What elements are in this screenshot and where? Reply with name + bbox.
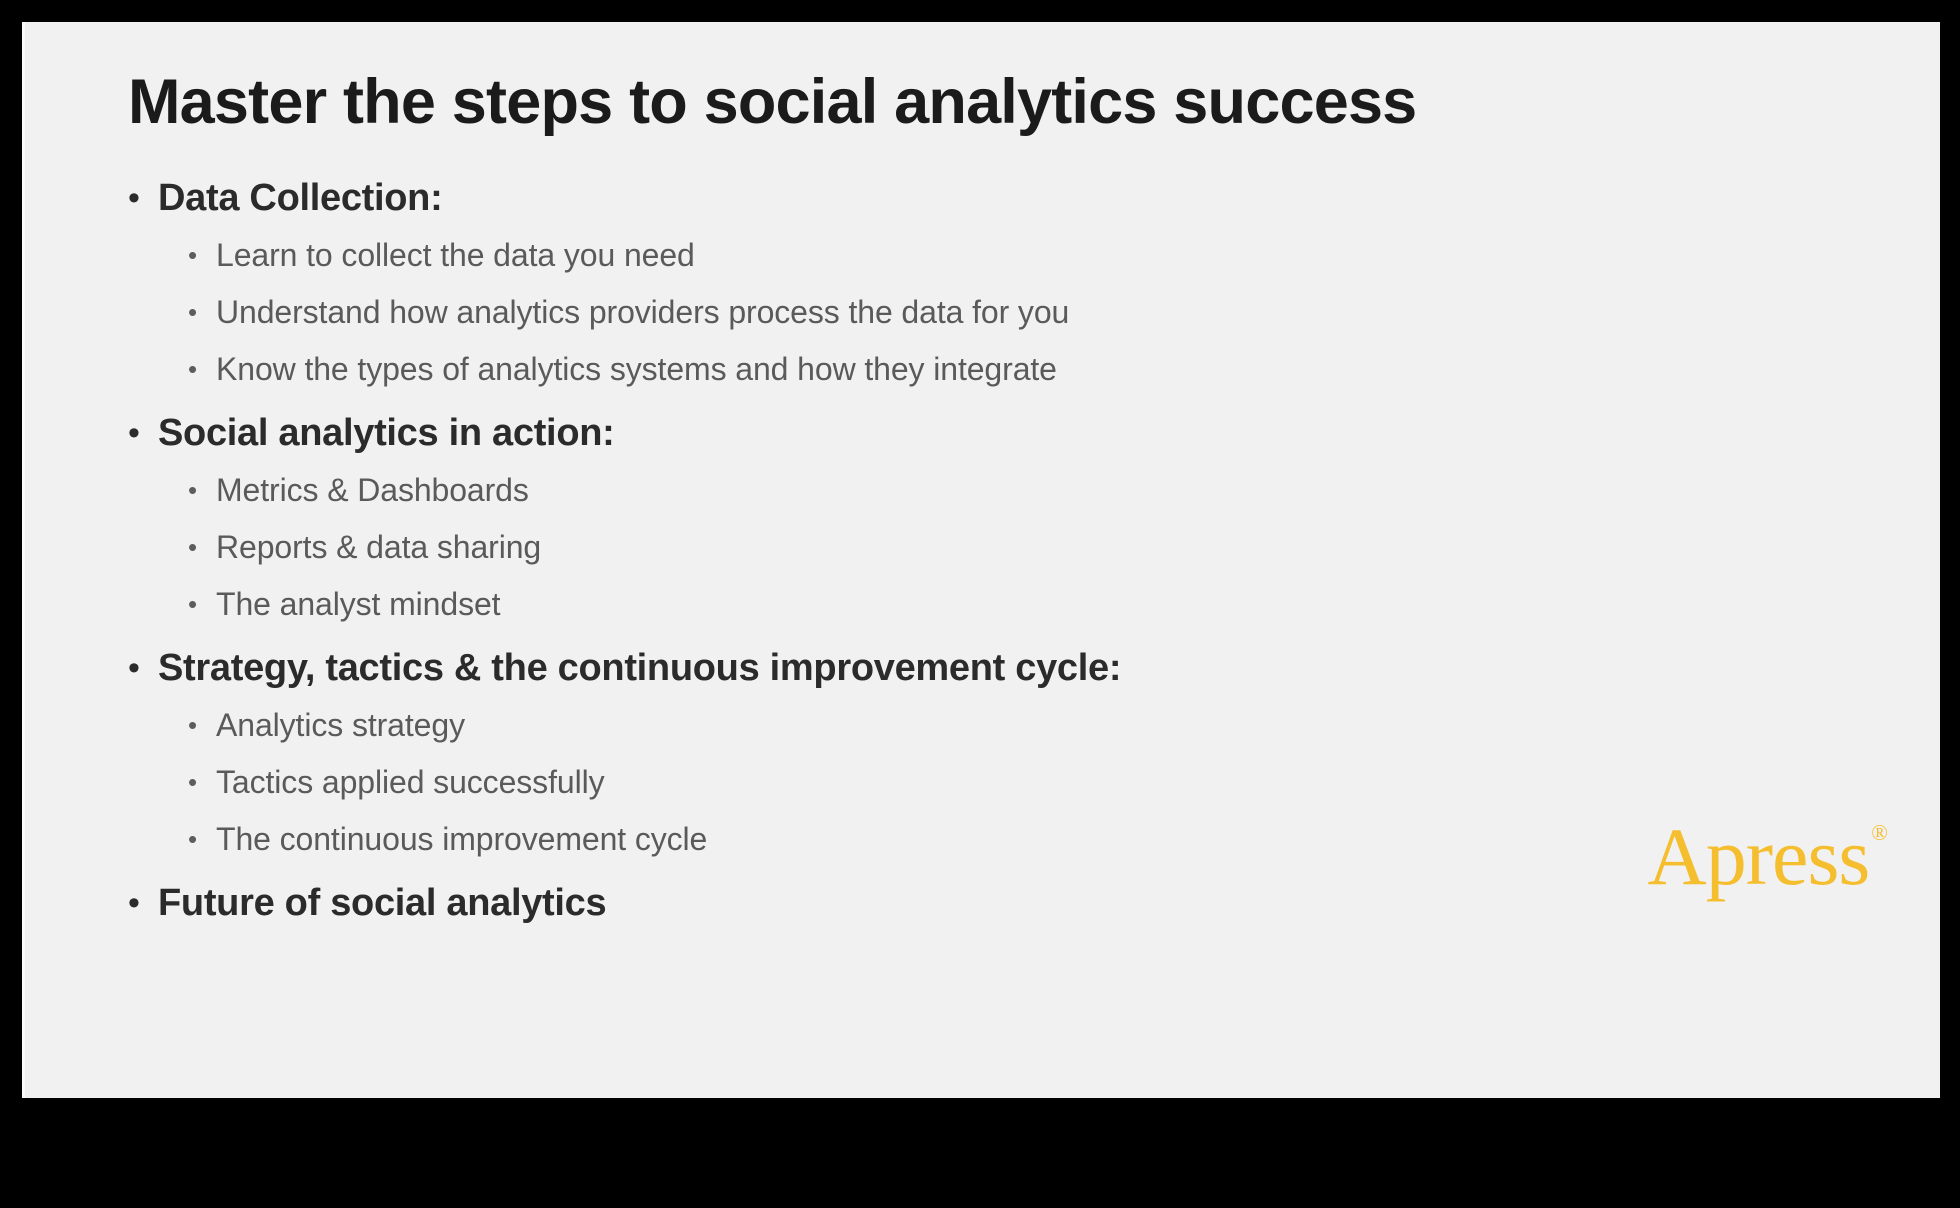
bullet-level2: •Analytics strategy bbox=[128, 698, 1628, 753]
bullet-point-icon: • bbox=[128, 170, 158, 226]
bullet-point-icon: • bbox=[188, 577, 216, 632]
bullet-level2: •Learn to collect the data you need bbox=[128, 228, 1628, 283]
bullet-point-icon: • bbox=[128, 640, 158, 696]
bullet-level2-label: Reports & data sharing bbox=[216, 520, 541, 575]
bullet-level2: •Reports & data sharing bbox=[128, 520, 1628, 575]
bullet-level1-label: Strategy, tactics & the continuous impro… bbox=[158, 640, 1121, 696]
bullet-level2-label: Understand how analytics providers proce… bbox=[216, 285, 1069, 340]
bullet-level2-label: Learn to collect the data you need bbox=[216, 228, 695, 283]
bullet-level1-label: Future of social analytics bbox=[158, 875, 606, 931]
bullet-point-icon: • bbox=[188, 698, 216, 753]
bullet-point-icon: • bbox=[128, 875, 158, 931]
bullet-point-icon: • bbox=[188, 342, 216, 397]
bullet-level1-label: Data Collection: bbox=[158, 170, 442, 226]
apress-logo: Apress ® bbox=[1648, 816, 1888, 898]
apress-wordmark: Apress bbox=[1648, 816, 1870, 898]
bullet-level1-label: Social analytics in action: bbox=[158, 405, 615, 461]
bullet-level2: •The analyst mindset bbox=[128, 577, 1628, 632]
bullet-level2-label: The analyst mindset bbox=[216, 577, 500, 632]
bullet-level2-group: •Learn to collect the data you need•Unde… bbox=[128, 228, 1628, 397]
bullet-level2: •The continuous improvement cycle bbox=[128, 812, 1628, 867]
bullet-level2: •Tactics applied successfully bbox=[128, 755, 1628, 810]
bullet-level2-group: •Metrics & Dashboards•Reports & data sha… bbox=[128, 463, 1628, 632]
bullet-point-icon: • bbox=[188, 520, 216, 575]
bullet-point-icon: • bbox=[188, 463, 216, 518]
screen-frame: Master the steps to social analytics suc… bbox=[0, 0, 1960, 1208]
bullet-point-icon: • bbox=[188, 755, 216, 810]
bullet-spacer bbox=[128, 933, 1628, 947]
bullet-level1: •Strategy, tactics & the continuous impr… bbox=[128, 640, 1628, 696]
bullet-point-icon: • bbox=[188, 285, 216, 340]
registered-trademark-icon: ® bbox=[1871, 822, 1888, 844]
bullet-level1: •Social analytics in action: bbox=[128, 405, 1628, 461]
bullet-level2-label: Metrics & Dashboards bbox=[216, 463, 529, 518]
bullet-level2: •Metrics & Dashboards bbox=[128, 463, 1628, 518]
slide-bullet-list: •Data Collection:•Learn to collect the d… bbox=[128, 170, 1628, 947]
bullet-point-icon: • bbox=[188, 812, 216, 867]
bullet-level2-label: Tactics applied successfully bbox=[216, 755, 604, 810]
presentation-slide: Master the steps to social analytics suc… bbox=[22, 22, 1940, 1098]
bullet-level2-label: The continuous improvement cycle bbox=[216, 812, 707, 867]
bullet-level2: •Know the types of analytics systems and… bbox=[128, 342, 1628, 397]
bullet-level2: •Understand how analytics providers proc… bbox=[128, 285, 1628, 340]
slide-title: Master the steps to social analytics suc… bbox=[128, 66, 1416, 138]
bullet-level2-label: Analytics strategy bbox=[216, 698, 465, 753]
bullet-level1: •Future of social analytics bbox=[128, 875, 1628, 931]
bullet-point-icon: • bbox=[128, 405, 158, 461]
bullet-level2-label: Know the types of analytics systems and … bbox=[216, 342, 1057, 397]
bullet-point-icon: • bbox=[188, 228, 216, 283]
bullet-level1: •Data Collection: bbox=[128, 170, 1628, 226]
bullet-level2-group: •Analytics strategy•Tactics applied succ… bbox=[128, 698, 1628, 867]
